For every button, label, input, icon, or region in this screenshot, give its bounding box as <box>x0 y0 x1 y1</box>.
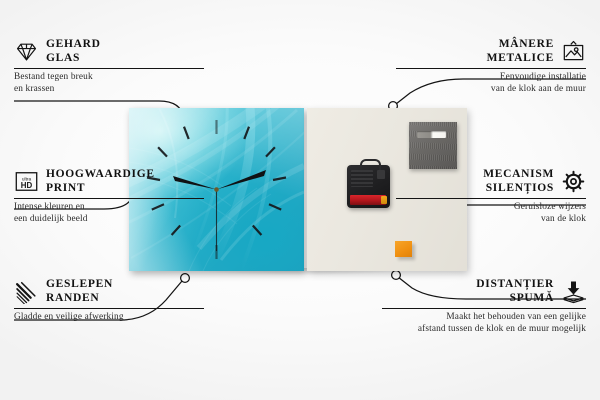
clock-center-cap <box>214 187 219 192</box>
feature-description: Gladde en veilige afwerking <box>14 312 204 324</box>
feature-title: GESLEPEN RANDEN <box>46 278 113 305</box>
mechanism-knob <box>377 170 385 179</box>
clock-minute-hand <box>217 170 267 190</box>
feature-title: MECANISM SILENȚIOS <box>483 168 554 195</box>
infographic-canvas: GEHARD GLAS Bestand tegen breuk en krass… <box>0 0 600 400</box>
title-rule <box>396 68 586 69</box>
quartz-mechanism <box>347 165 390 208</box>
feature-hoogwaardige-print: ultra HD HOOGWAARDIGE PRINT Intense kleu… <box>14 168 204 225</box>
hanger-loop <box>360 159 381 170</box>
ultra-hd-icon: ultra HD <box>14 169 39 194</box>
title-rule <box>382 308 586 309</box>
battery <box>350 195 386 205</box>
feature-description: Geruisloze wijzers van de klok <box>396 202 586 225</box>
diamond-icon <box>14 39 39 64</box>
mechanism-grille <box>351 170 373 187</box>
metal-hanger-plate <box>409 122 457 169</box>
feature-description: Eenvoudige installatie van de klok aan d… <box>396 72 586 95</box>
picture-hanger-icon <box>561 39 586 64</box>
title-rule <box>14 308 204 309</box>
foam-spacer <box>395 241 412 257</box>
feature-gehard-glas: GEHARD GLAS Bestand tegen breuk en krass… <box>14 38 204 95</box>
feature-geslepen-randen: GESLEPEN RANDEN Gladde en veilige afwerk… <box>14 278 204 324</box>
gear-icon <box>561 169 586 194</box>
svg-text:HD: HD <box>21 181 33 190</box>
title-rule <box>14 198 204 199</box>
feature-description: Intense kleuren en een duidelijk beeld <box>14 202 204 225</box>
feature-description: Maakt het behouden van een gelijke afsta… <box>382 312 586 335</box>
feature-title: MÂNERE METALICE <box>487 38 554 65</box>
feature-mecanism-silentios: MECANISM SILENȚIOS Geruisloze wijzers va… <box>396 168 586 225</box>
title-rule <box>14 68 204 69</box>
hanger-slot <box>417 131 446 138</box>
foam-spacer-icon <box>561 279 586 304</box>
beveled-edges-icon <box>14 279 39 304</box>
feature-distantier-spuma: DISTANȚIER SPUMĂ Maakt het behouden van … <box>382 278 586 335</box>
feature-title: GEHARD GLAS <box>46 38 101 65</box>
feature-title: HOOGWAARDIGE PRINT <box>46 168 155 195</box>
feature-manere-metalice: MÂNERE METALICE Eenvoudige installatie v… <box>396 38 586 95</box>
feature-title: DISTANȚIER SPUMĂ <box>476 278 554 305</box>
feature-description: Bestand tegen breuk en krassen <box>14 72 204 95</box>
title-rule <box>396 198 586 199</box>
